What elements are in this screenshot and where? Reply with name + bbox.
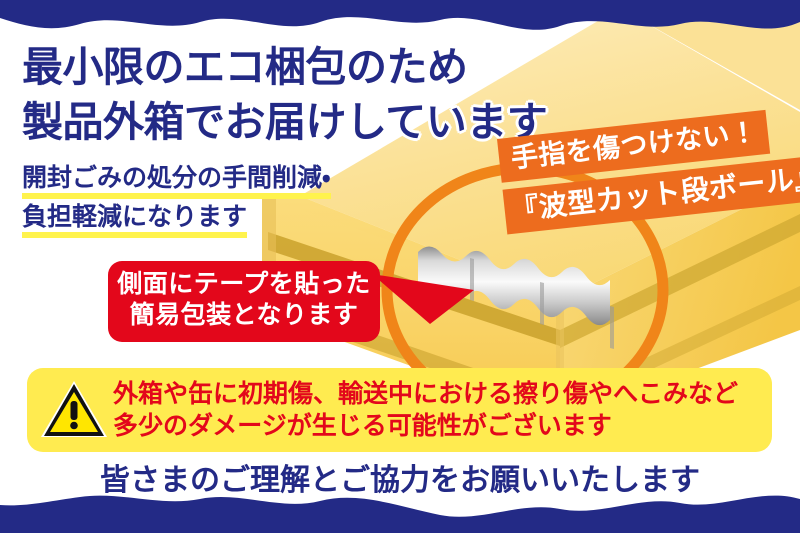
sublead-line-2: 負担軽減になります bbox=[22, 199, 247, 238]
closing-message: 皆さまのご理解とご協力をお願いいたします bbox=[0, 455, 800, 499]
sublead-line-1: 開封ごみの処分の手間削減・ bbox=[22, 160, 331, 199]
page-title: 最小限のエコ梱包のため 製品外箱でお届けしています bbox=[22, 40, 547, 149]
warning-line-1: 外箱や缶に初期傷、輸送中における擦り傷やへこみなど bbox=[113, 378, 738, 410]
red-badge-line-2: 簡易包装となります bbox=[108, 300, 380, 331]
headline-line-2: 製品外箱でお届けしています bbox=[22, 95, 547, 150]
headline-line-1: 最小限のエコ梱包のため bbox=[22, 40, 547, 95]
sublead-text: 開封ごみの処分の手間削減・ 負担軽減になります bbox=[22, 160, 331, 238]
warning-triangle-icon bbox=[39, 378, 109, 442]
red-pointer-arrow bbox=[372, 268, 482, 330]
warning-line-2: 多少のダメージが生じる可能性がございます bbox=[113, 410, 738, 442]
warning-text: 外箱や缶に初期傷、輸送中における擦り傷やへこみなど 多少のダメージが生じる可能性… bbox=[113, 378, 738, 442]
packaging-notice-banner: 最小限のエコ梱包のため 製品外箱でお届けしています 開封ごみの処分の手間削減・ … bbox=[0, 0, 800, 533]
damage-warning-box: 外箱や缶に初期傷、輸送中における擦り傷やへこみなど 多少のダメージが生じる可能性… bbox=[27, 368, 772, 452]
simple-packaging-badge: 側面にテープを貼った 簡易包装となります bbox=[108, 261, 380, 342]
red-badge-line-1: 側面にテープを貼った bbox=[108, 269, 380, 300]
